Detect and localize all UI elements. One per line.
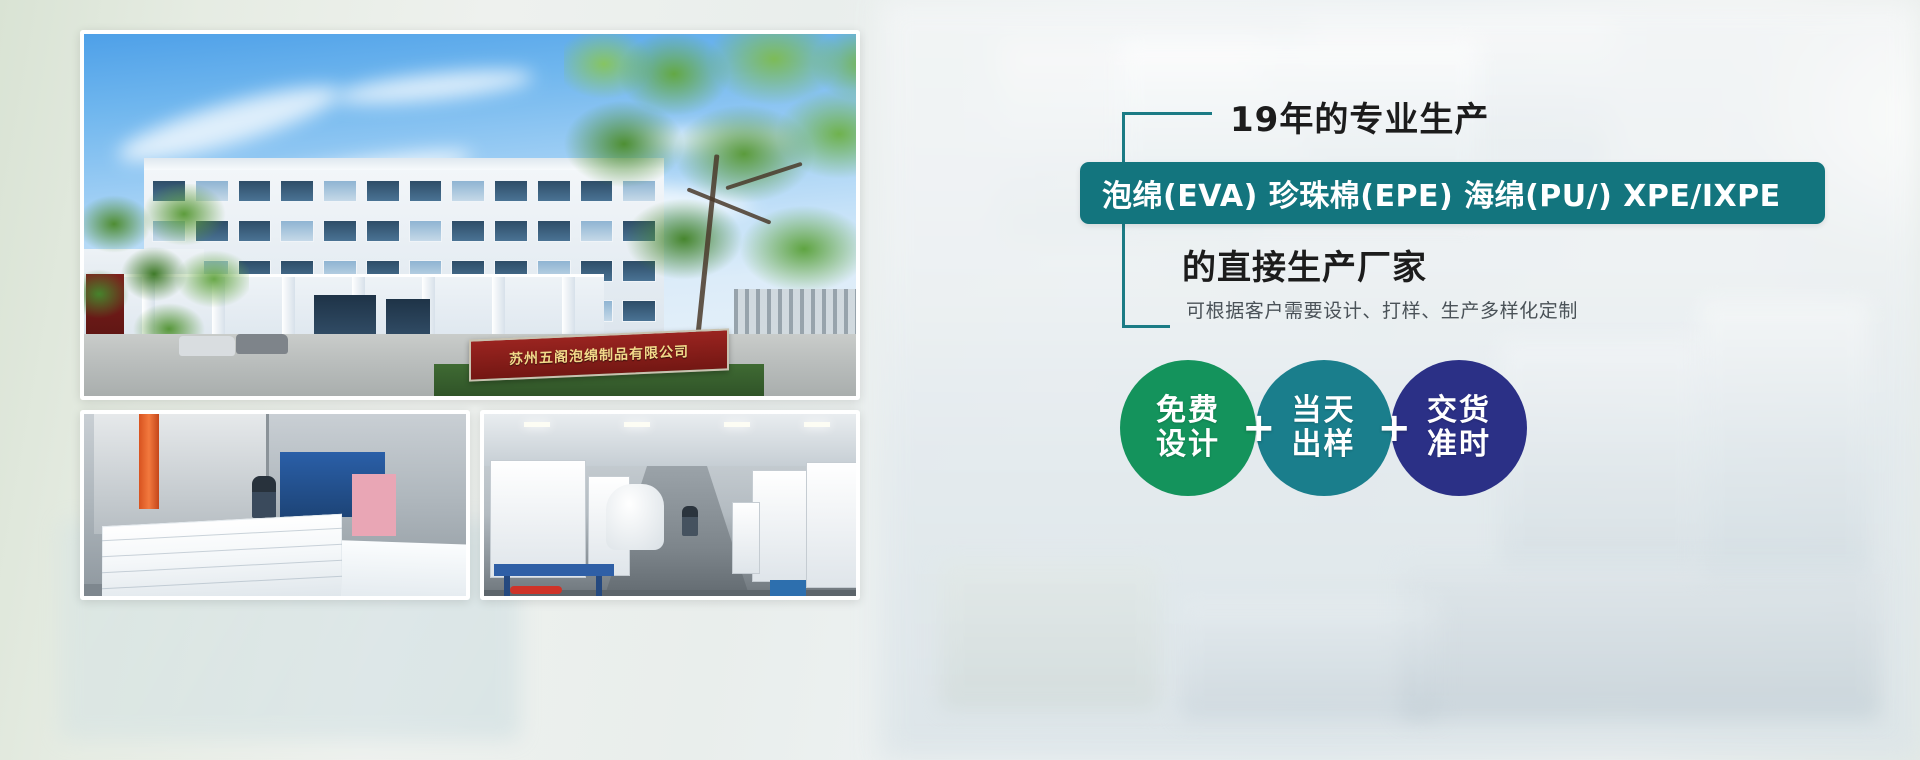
foam-production-line-photo bbox=[80, 410, 470, 600]
badge-line-2: 出样 bbox=[1292, 428, 1356, 462]
parked-car bbox=[236, 334, 288, 354]
banner-content: 19年的专业生产 泡绵(EVA) 珍珠棉(EPE) 海绵(PU/) XPE/IX… bbox=[1080, 90, 1900, 650]
product-stack bbox=[752, 470, 808, 582]
worker bbox=[682, 506, 698, 536]
banner-stage: 苏州五阁泡绵制品有限公司 bbox=[0, 0, 1920, 760]
blue-bin bbox=[770, 580, 806, 596]
pink-material-stack bbox=[352, 474, 396, 536]
badge-free-design: 免费 设计 bbox=[1120, 360, 1256, 496]
warehouse-aisle-photo bbox=[480, 410, 860, 600]
badge-line-1: 交货 bbox=[1427, 394, 1491, 428]
warehouse-ceiling bbox=[484, 414, 856, 466]
subtitle-text: 可根据客户需要设计、打样、生产多样化定制 bbox=[1186, 296, 1578, 323]
foam-sheet-stack bbox=[102, 514, 342, 596]
headline-top: 19年的专业生产 bbox=[1230, 92, 1489, 141]
company-sign-text: 苏州五阁泡绵制品有限公司 bbox=[509, 341, 689, 369]
product-list-text: 泡绵(EVA) 珍珠棉(EPE) 海绵(PU/) XPE/IXPE bbox=[1102, 171, 1781, 215]
badge-on-time-delivery: 交货 准时 bbox=[1391, 360, 1527, 496]
badge-line-1: 当天 bbox=[1292, 394, 1356, 428]
photo-collage: 苏州五阁泡绵制品有限公司 bbox=[80, 30, 860, 600]
parked-car bbox=[179, 336, 235, 356]
factory-exterior-photo: 苏州五阁泡绵制品有限公司 bbox=[80, 30, 860, 400]
product-list-bar: 泡绵(EVA) 珍珠棉(EPE) 海绵(PU/) XPE/IXPE bbox=[1080, 162, 1825, 224]
blue-work-table bbox=[494, 564, 614, 576]
worker bbox=[252, 476, 276, 518]
badge-line-2: 设计 bbox=[1156, 428, 1220, 462]
product-stack bbox=[490, 460, 586, 578]
tree bbox=[84, 184, 249, 354]
packed-bag bbox=[606, 484, 664, 550]
product-stack bbox=[732, 502, 760, 574]
service-badges: 免费 设计 + 当天 出样 + 交货 准时 bbox=[1120, 360, 1527, 496]
cutting-machine bbox=[94, 414, 269, 534]
bracket-top-line bbox=[1122, 112, 1212, 115]
plus-separator-icon: + bbox=[1242, 405, 1276, 451]
plus-separator-icon: + bbox=[1378, 405, 1412, 451]
badge-line-1: 免费 bbox=[1156, 394, 1220, 428]
machine-column bbox=[139, 414, 159, 509]
product-stack bbox=[806, 462, 856, 588]
headline-bottom: 的直接生产厂家 bbox=[1182, 240, 1427, 289]
badge-line-2: 准时 bbox=[1427, 428, 1491, 462]
bracket-bottom-line bbox=[1122, 325, 1170, 328]
red-tool bbox=[510, 586, 562, 594]
